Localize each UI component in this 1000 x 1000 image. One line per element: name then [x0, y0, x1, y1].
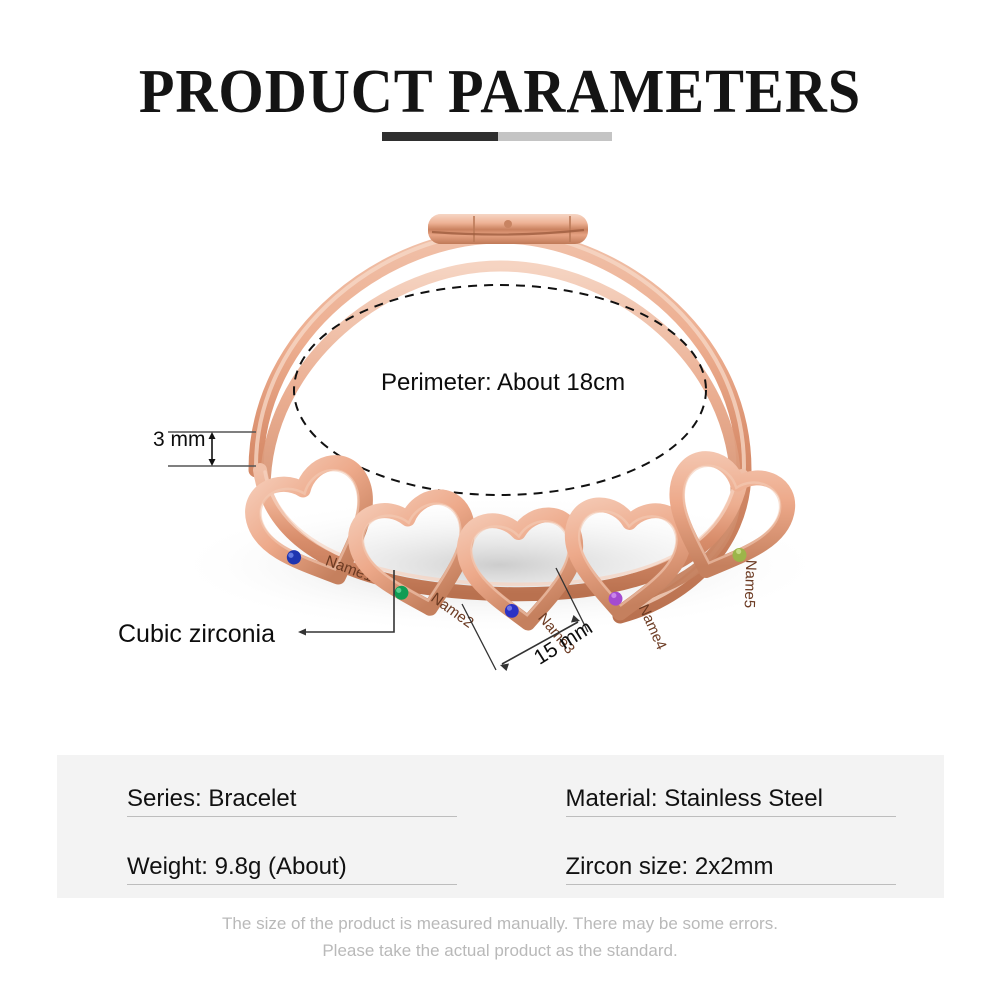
band-width-label: 3 mm: [153, 428, 206, 452]
barrel-clasp: [428, 214, 588, 244]
spec-row-material: Material: Stainless Steel: [566, 769, 896, 817]
spec-column-left: Series: Bracelet Weight: 9.8g (About): [57, 755, 501, 898]
spec-weight-text: Weight: 9.8g (About): [127, 855, 347, 879]
spec-material-text: Material: Stainless Steel: [566, 787, 823, 811]
spec-column-right: Material: Stainless Steel Zircon size: 2…: [501, 755, 945, 898]
spec-zircon-size-text: Zircon size: 2x2mm: [566, 855, 774, 879]
spec-panel: Series: Bracelet Weight: 9.8g (About) Ma…: [57, 755, 944, 898]
title-divider: [382, 132, 612, 141]
page-title: PRODUCT PARAMETERS: [30, 57, 970, 128]
spec-row-weight: Weight: 9.8g (About): [127, 837, 457, 885]
spec-row-series: Series: Bracelet: [127, 769, 457, 817]
spec-row-zircon-size: Zircon size: 2x2mm: [566, 837, 896, 885]
divider-light-segment: [498, 132, 612, 141]
clasp-hole: [504, 220, 512, 228]
perimeter-label: Perimeter: About 18cm: [381, 369, 625, 397]
divider-dark-segment: [382, 132, 498, 141]
spec-series-text: Series: Bracelet: [127, 787, 296, 811]
footer-line-1: The size of the product is measured manu…: [0, 910, 1000, 937]
charm-label-5: Name5: [741, 559, 760, 608]
footer-disclaimer: The size of the product is measured manu…: [0, 910, 1000, 964]
product-parameters-page: PRODUCT PARAMETERS: [0, 0, 1000, 1000]
footer-line-2: Please take the actual product as the st…: [0, 937, 1000, 964]
cubic-zirconia-label: Cubic zirconia: [118, 620, 275, 649]
